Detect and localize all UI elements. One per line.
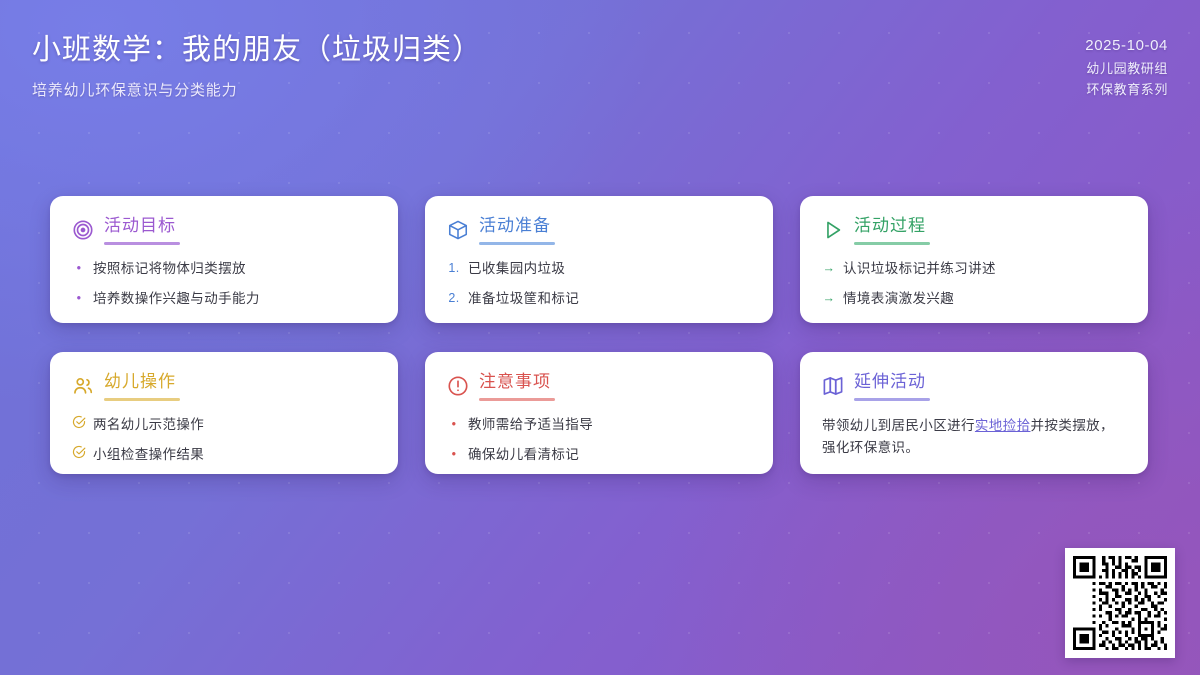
- qr-code-image: [1073, 556, 1167, 650]
- play-icon: [822, 219, 844, 241]
- paragraph-before: 带领幼儿到居民小区进行: [822, 418, 975, 433]
- card-body: → 认识垃圾标记并练习讲述 → 情境表演激发兴趣: [822, 259, 1126, 310]
- list-item-text: 已收集园内垃圾: [468, 259, 751, 279]
- title-underline: [479, 242, 555, 245]
- card-title-wrap: 活动准备: [479, 216, 555, 245]
- extension-paragraph: 带领幼儿到居民小区进行实地捡拾并按类摆放，强化环保意识。: [822, 415, 1126, 460]
- header-meta: 2025-10-04 幼儿园教研组 环保教育系列: [1085, 34, 1168, 100]
- card-header: 注意事项: [447, 372, 751, 401]
- bullet-dot-icon: •: [72, 289, 86, 308]
- list-item: → 认识垃圾标记并练习讲述: [822, 259, 1126, 279]
- box-icon: [447, 219, 469, 241]
- arrow-right-icon: →: [822, 259, 836, 278]
- list-item-text: 情境表演激发兴趣: [843, 289, 1126, 309]
- arrow-right-icon: →: [822, 289, 836, 308]
- card-title-wrap: 活动过程: [854, 216, 930, 245]
- card-title: 幼儿操作: [104, 372, 180, 392]
- list-item: • 培养数操作兴趣与动手能力: [72, 289, 376, 309]
- list-item: 小组检查操作结果: [72, 445, 376, 465]
- list-item-text: 两名幼儿示范操作: [93, 415, 376, 435]
- list-item-text: 按照标记将物体归类摆放: [93, 259, 376, 279]
- list-item: • 确保幼儿看清标记: [447, 445, 751, 465]
- card-grid: 活动目标 • 按照标记将物体归类摆放 • 培养数操作兴趣与动手能力: [50, 196, 1150, 474]
- list-item-text: 小组检查操作结果: [93, 445, 376, 465]
- card-activity-process[interactable]: 活动过程 → 认识垃圾标记并练习讲述 → 情境表演激发兴趣: [800, 196, 1148, 323]
- title-underline: [104, 398, 180, 401]
- page-title: 小班数学：我的朋友（垃圾归类）: [32, 26, 482, 68]
- list-item: • 按照标记将物体归类摆放: [72, 259, 376, 279]
- card-title: 注意事项: [479, 372, 555, 392]
- meta-date: 2025-10-04: [1085, 34, 1168, 58]
- title-block: 小班数学：我的朋友（垃圾归类） 培养幼儿环保意识与分类能力: [32, 26, 482, 100]
- ordinal-marker: 2.: [447, 289, 461, 308]
- alert-circle-icon: [447, 375, 469, 397]
- title-underline: [479, 398, 555, 401]
- card-title-wrap: 幼儿操作: [104, 372, 180, 401]
- ordinal-marker: 1.: [447, 259, 461, 278]
- bullet-dot-icon: •: [72, 259, 86, 278]
- title-underline: [104, 242, 180, 245]
- meta-org: 幼儿园教研组: [1085, 58, 1168, 79]
- target-icon: [72, 219, 94, 241]
- card-extension-activity[interactable]: 延伸活动 带领幼儿到居民小区进行实地捡拾并按类摆放，强化环保意识。: [800, 352, 1148, 474]
- card-header: 活动目标: [72, 216, 376, 245]
- card-title-wrap: 注意事项: [479, 372, 555, 401]
- list-item-text: 认识垃圾标记并练习讲述: [843, 259, 1126, 279]
- bullet-dot-icon: •: [447, 445, 461, 464]
- page-subtitle: 培养幼儿环保意识与分类能力: [32, 79, 482, 100]
- list-item-text: 确保幼儿看清标记: [468, 445, 751, 465]
- users-icon: [72, 375, 94, 397]
- card-body: 1. 已收集园内垃圾 2. 准备垃圾筐和标记: [447, 259, 751, 310]
- list-item: • 教师需给予适当指导: [447, 415, 751, 435]
- list-item-text: 培养数操作兴趣与动手能力: [93, 289, 376, 309]
- card-body: 两名幼儿示范操作 小组检查操作结果: [72, 415, 376, 466]
- card-title: 活动过程: [854, 216, 930, 236]
- title-underline: [854, 242, 930, 245]
- card-activity-preparation[interactable]: 活动准备 1. 已收集园内垃圾 2. 准备垃圾筐和标记: [425, 196, 773, 323]
- card-title: 延伸活动: [854, 372, 930, 392]
- slide-header: 小班数学：我的朋友（垃圾归类） 培养幼儿环保意识与分类能力 2025-10-04…: [0, 0, 1200, 150]
- card-body: 带领幼儿到居民小区进行实地捡拾并按类摆放，强化环保意识。: [822, 415, 1126, 460]
- list-item: 1. 已收集园内垃圾: [447, 259, 751, 279]
- card-title-wrap: 延伸活动: [854, 372, 930, 401]
- card-header: 活动准备: [447, 216, 751, 245]
- bullet-dot-icon: •: [447, 415, 461, 434]
- list-item: → 情境表演激发兴趣: [822, 289, 1126, 309]
- qr-code[interactable]: [1065, 548, 1175, 658]
- card-title-wrap: 活动目标: [104, 216, 180, 245]
- card-body: • 按照标记将物体归类摆放 • 培养数操作兴趣与动手能力: [72, 259, 376, 310]
- card-activity-goals[interactable]: 活动目标 • 按照标记将物体归类摆放 • 培养数操作兴趣与动手能力: [50, 196, 398, 323]
- card-header: 幼儿操作: [72, 372, 376, 401]
- card-body: • 教师需给予适当指导 • 确保幼儿看清标记: [447, 415, 751, 466]
- check-circle-icon: [72, 445, 86, 459]
- list-item: 2. 准备垃圾筐和标记: [447, 289, 751, 309]
- card-children-operation[interactable]: 幼儿操作 两名幼儿示范操作 小组检查操作结果: [50, 352, 398, 474]
- card-header: 延伸活动: [822, 372, 1126, 401]
- map-icon: [822, 375, 844, 397]
- card-title: 活动目标: [104, 216, 180, 236]
- check-circle-icon: [72, 415, 86, 429]
- card-title: 活动准备: [479, 216, 555, 236]
- field-trip-link[interactable]: 实地捡拾: [975, 418, 1031, 433]
- title-underline: [854, 398, 930, 401]
- meta-series: 环保教育系列: [1085, 79, 1168, 100]
- list-item-text: 准备垃圾筐和标记: [468, 289, 751, 309]
- card-header: 活动过程: [822, 216, 1126, 245]
- list-item-text: 教师需给予适当指导: [468, 415, 751, 435]
- card-cautions[interactable]: 注意事项 • 教师需给予适当指导 • 确保幼儿看清标记: [425, 352, 773, 474]
- list-item: 两名幼儿示范操作: [72, 415, 376, 435]
